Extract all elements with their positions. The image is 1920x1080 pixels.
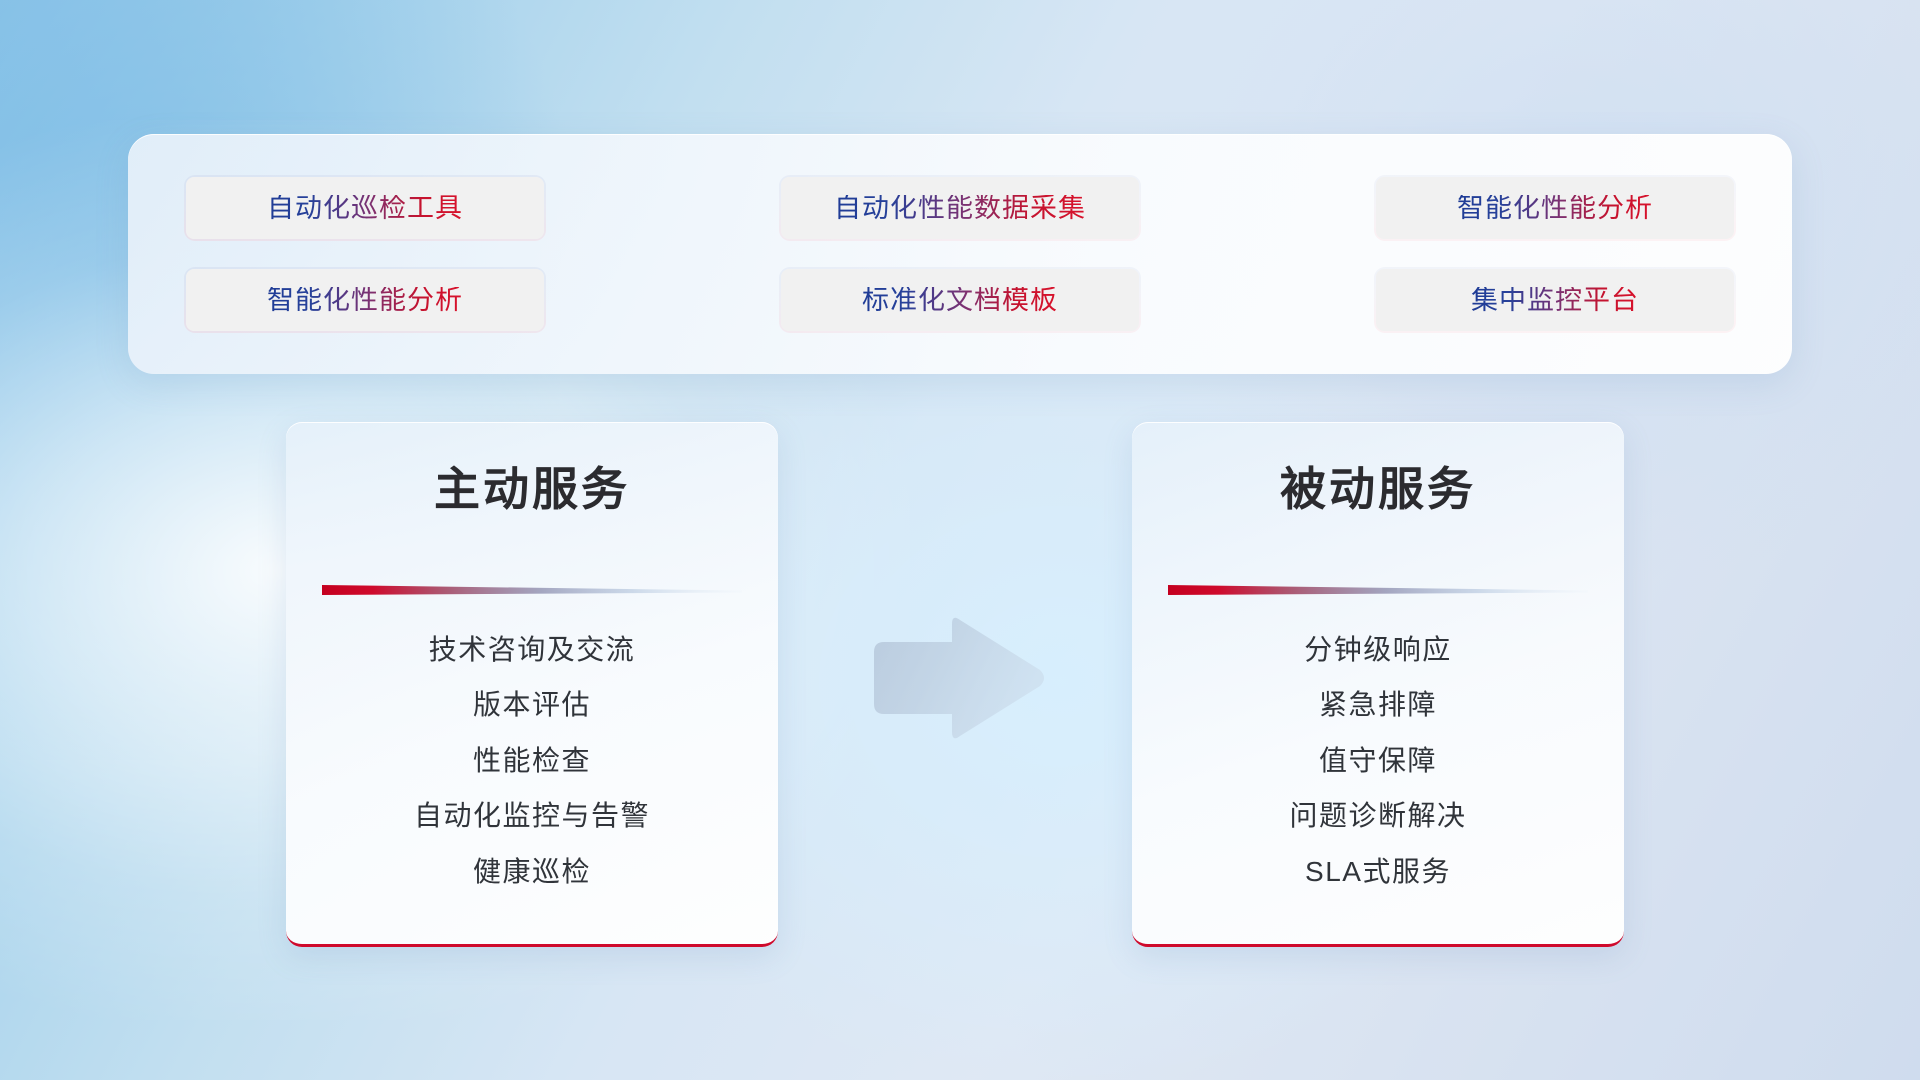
capability-pill-intelligent-perf-analysis-2[interactable]: 智能化性能分析 (184, 267, 546, 333)
capability-pill-label: 自动化巡检工具 (267, 195, 463, 222)
card-list-item: 问题诊断解决 (1289, 799, 1466, 833)
card-list-item: 健康巡检 (473, 855, 591, 889)
card-divider-active (322, 583, 742, 597)
slide-stage: 自动化巡检工具 自动化性能数据采集 智能化性能分析 智能化性能分析 标准化文档模… (0, 0, 1920, 1080)
card-list-item: 版本评估 (473, 688, 591, 722)
capability-pill-label: 智能化性能分析 (267, 287, 463, 314)
capability-pill-auto-inspection-tool[interactable]: 自动化巡检工具 (184, 175, 546, 241)
card-list-item: 值守保障 (1319, 744, 1437, 778)
capability-pill-central-monitoring-platform[interactable]: 集中监控平台 (1374, 267, 1736, 333)
card-list-item: 自动化监控与告警 (414, 799, 650, 833)
capability-pill-auto-perf-data-collection[interactable]: 自动化性能数据采集 (779, 175, 1141, 241)
card-title-passive-service: 被动服务 (1166, 464, 1590, 515)
capability-pill-standard-doc-template[interactable]: 标准化文档模板 (779, 267, 1141, 333)
card-item-list-passive: 分钟级响应 紧急排障 值守保障 问题诊断解决 SLA式服务 (1166, 597, 1590, 920)
card-list-item: 紧急排障 (1319, 688, 1437, 722)
arrow-right-icon (868, 612, 1048, 744)
capability-pill-label: 集中监控平台 (1471, 287, 1639, 314)
capability-pill-label: 智能化性能分析 (1457, 195, 1653, 222)
card-item-list-active: 技术咨询及交流 版本评估 性能检查 自动化监控与告警 健康巡检 (320, 597, 744, 920)
capability-pill-label: 标准化文档模板 (862, 287, 1058, 314)
card-list-item: SLA式服务 (1305, 855, 1451, 889)
capability-pill-intelligent-perf-analysis[interactable]: 智能化性能分析 (1374, 175, 1736, 241)
service-card-passive[interactable]: 被动服务 分钟级响应 紧急排障 值守保障 (1132, 422, 1624, 947)
card-divider-passive (1168, 583, 1588, 597)
capability-pill-label: 自动化性能数据采集 (834, 195, 1086, 222)
card-list-item: 技术咨询及交流 (429, 633, 636, 667)
card-list-item: 分钟级响应 (1304, 633, 1452, 667)
service-card-active[interactable]: 主动服务 技术咨询及交流 版本评估 性能检查 (286, 422, 778, 947)
capability-row-2: 智能化性能分析 标准化文档模板 集中监控平台 (184, 267, 1736, 333)
capability-panel: 自动化巡检工具 自动化性能数据采集 智能化性能分析 智能化性能分析 标准化文档模… (128, 134, 1792, 374)
card-title-active-service: 主动服务 (320, 464, 744, 515)
capability-row-1: 自动化巡检工具 自动化性能数据采集 智能化性能分析 (184, 175, 1736, 241)
card-list-item: 性能检查 (473, 744, 591, 778)
